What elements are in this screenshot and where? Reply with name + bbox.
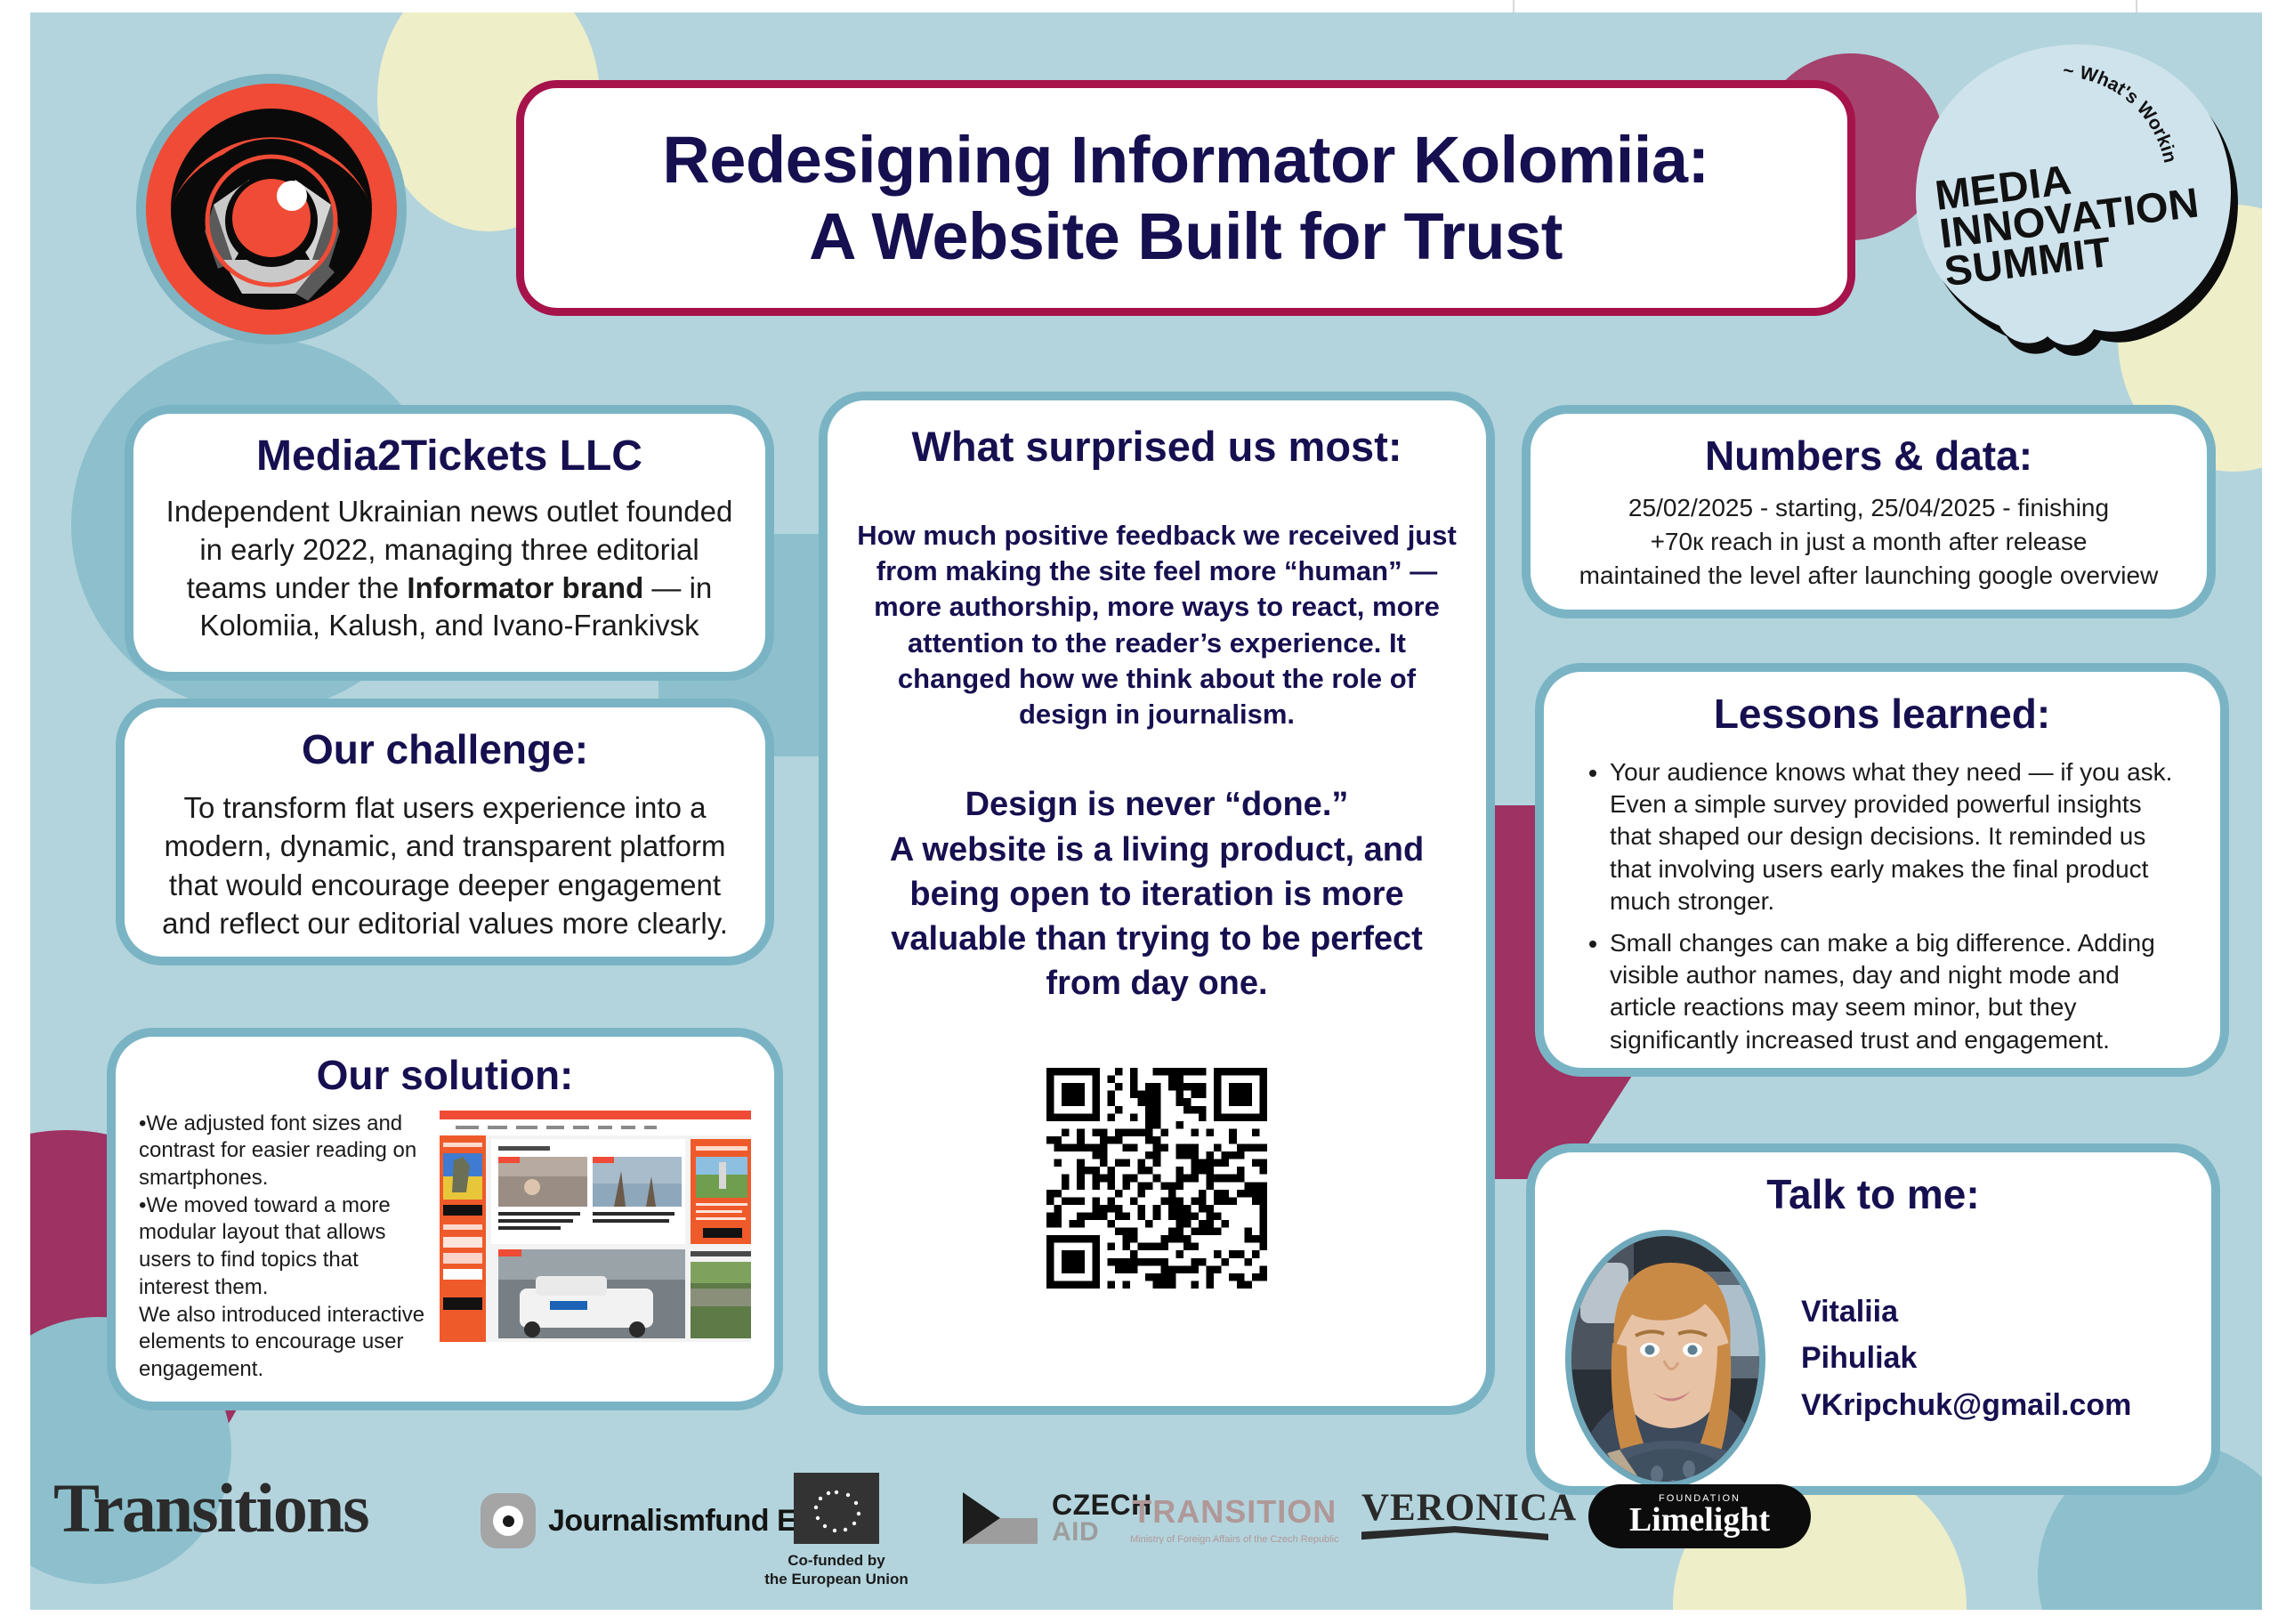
speaker-photo	[1565, 1230, 1765, 1488]
czech-aid-mark-icon	[961, 1491, 1038, 1546]
contact-email[interactable]: VKripchuk@gmail.com	[1801, 1382, 2131, 1429]
about-body-bold: Informator brand	[407, 571, 643, 604]
logo-limelight-foundation: FOUNDATION Limelight	[1588, 1484, 1811, 1548]
numbers-heading: Numbers & data:	[1561, 433, 2177, 479]
eu-flag-icon	[794, 1473, 879, 1544]
contact-details: Vitaliia Pihuliak VKripchuk@gmail.com	[1801, 1289, 2131, 1429]
media-innovation-summit-badge: ~ What's Working ~ MEDIA INNOVATION SUMM…	[1900, 36, 2247, 365]
poster-title: Redesigning Informator Kolomiia: A Websi…	[516, 80, 1855, 316]
challenge-heading: Our challenge:	[155, 727, 735, 772]
lessons-item: Your audience knows what they need — if …	[1610, 756, 2190, 918]
contact-first-name: Vitaliia	[1801, 1289, 2131, 1336]
card-lessons-learned: Lessons learned: Your audience knows wha…	[1535, 663, 2229, 1077]
contact-last-name: Pihuliak	[1801, 1335, 2131, 1382]
about-heading: Media2Tickets LLC	[164, 433, 735, 481]
card-what-surprised-us: What surprised us most: How much positiv…	[819, 392, 1495, 1415]
contact-heading: Talk to me:	[1565, 1172, 2181, 1217]
lessons-item: Small changes can make a big difference.…	[1610, 927, 2190, 1057]
numbers-line-1: 25/02/2025 - starting, 25/04/2025 - fini…	[1561, 491, 2177, 525]
footer-sponsor-logos: Transitions Journalismfund Europe	[53, 1459, 1513, 1584]
eu-caption-line-2: the European Union	[756, 1570, 917, 1588]
board-edge-left	[0, 0, 30, 1624]
numbers-line-3: maintained the level after launching goo…	[1561, 559, 2177, 593]
board-edge-tick	[1513, 0, 1515, 12]
lessons-heading: Lessons learned:	[1574, 691, 2190, 737]
board-edge-top	[0, 0, 2278, 12]
poster-title-line-1: Redesigning Informator Kolomiia:	[662, 122, 1708, 198]
informator-eye-logo	[133, 71, 409, 347]
poster-canvas: ~ What's Working ~ MEDIA INNOVATION SUMM…	[0, 0, 2278, 1624]
transition-mfa-subtitle: Ministry of Foreign Affairs of the Czech…	[1130, 1534, 1339, 1545]
numbers-line-2: +70к reach in just a month after release	[1561, 525, 2177, 559]
transition-mfa-name: TRANSITION	[1130, 1493, 1339, 1531]
qr-code[interactable]	[1046, 1068, 1267, 1293]
board-edge-right	[2262, 0, 2278, 1624]
card-about-company: Media2Tickets LLC Independent Ukrainian …	[125, 405, 774, 681]
board-edge-bottom	[0, 1610, 2278, 1624]
limelight-name: Limelight	[1629, 1500, 1770, 1539]
veronica-name: VERONICA	[1361, 1486, 1577, 1530]
center-paragraph-1: How much positive feedback we received j…	[854, 518, 1459, 733]
poster-title-line-2: A Website Built for Trust	[809, 198, 1563, 274]
lessons-list: Your audience knows what they need — if …	[1574, 756, 2190, 1057]
challenge-body: To transform flat users experience into …	[155, 788, 735, 943]
solution-heading: Our solution:	[139, 1053, 751, 1098]
about-body: Independent Ukrainian news outlet founde…	[164, 493, 735, 646]
center-heading: What surprised us most:	[854, 424, 1459, 470]
solution-body: •We adjusted font sizes and contrast for…	[139, 1111, 425, 1384]
eu-caption-line-1: Co-funded by	[756, 1551, 917, 1570]
card-our-challenge: Our challenge: To transform flat users e…	[116, 699, 774, 966]
informator-website-screenshot	[440, 1111, 751, 1342]
logo-transition-mfa: TRANSITION Ministry of Foreign Affairs o…	[1130, 1493, 1339, 1545]
logo-transitions: Transitions	[53, 1468, 368, 1548]
center-paragraph-2: Design is never “done.” A website is a l…	[854, 782, 1459, 1006]
logo-european-union: Co-funded by the European Union	[756, 1473, 917, 1589]
journalismfund-eye-icon	[481, 1493, 536, 1548]
card-our-solution: Our solution: •We adjusted font sizes an…	[107, 1028, 783, 1410]
logo-veronica: VERONICA	[1361, 1486, 1577, 1540]
card-numbers-and-data: Numbers & data: 25/02/2025 - starting, 2…	[1522, 405, 2216, 618]
logo-czech-aid: CZECH AID	[961, 1491, 1152, 1546]
board-edge-tick	[2136, 0, 2137, 12]
card-talk-to-me: Talk to me:	[1526, 1143, 2220, 1495]
